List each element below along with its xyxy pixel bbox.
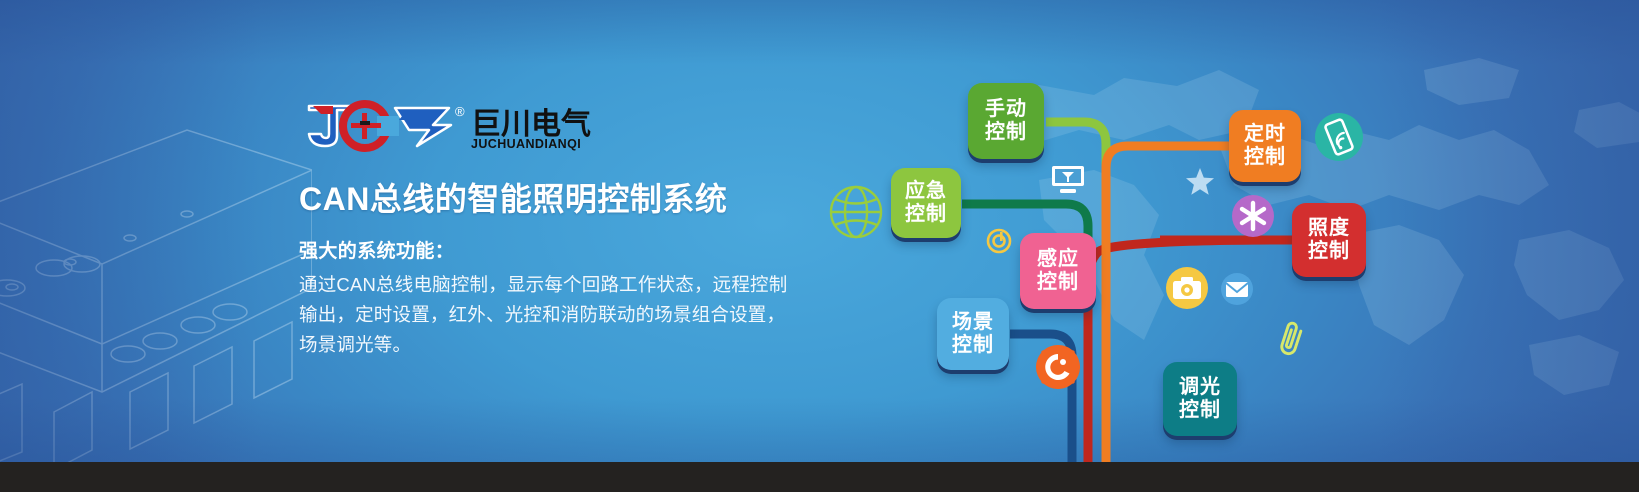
control-badge-manual[interactable]: 手动控制 [968, 83, 1044, 159]
star-icon [1185, 167, 1215, 197]
description-line: 场景调光等。 [299, 330, 899, 360]
badge-label-line1: 调光 [1179, 376, 1221, 399]
envelope-icon [1221, 273, 1253, 305]
paperclip-icon [1275, 318, 1309, 360]
badge-label-line1: 定时 [1244, 123, 1286, 146]
headline-block: ® 巨川电气 JUCHUANDIANQI CAN总线的智能照明控制系统 强大的系… [299, 96, 919, 360]
control-badge-dimming[interactable]: 调光控制 [1163, 362, 1237, 436]
control-badge-timer[interactable]: 定时控制 [1229, 110, 1301, 182]
description-line: 输出，定时设置，红外、光控和消防联动的场景组合设置， [299, 300, 899, 330]
badge-label-line2: 控制 [1179, 399, 1221, 422]
page-title: CAN总线的智能照明控制系统 [299, 174, 919, 220]
gear-icon [1036, 345, 1080, 389]
badge-label-line1: 手动 [985, 98, 1027, 121]
camera-icon [1166, 267, 1208, 309]
subheading: 强大的系统功能： [299, 236, 919, 263]
control-badge-scene[interactable]: 场景控制 [937, 298, 1009, 370]
terminal-block-wireframe-icon [0, 92, 312, 462]
badge-label-line2: 控制 [1037, 271, 1079, 294]
control-badge-lux[interactable]: 照度控制 [1292, 203, 1366, 277]
badge-label-line2: 控制 [1244, 146, 1286, 169]
badge-label-line2: 控制 [952, 334, 994, 357]
svg-text:®: ® [455, 104, 465, 119]
badge-label-line2: 控制 [1308, 240, 1350, 263]
badge-label-line2: 控制 [985, 121, 1027, 144]
logo-name-pinyin: JUCHUANDIANQI [471, 137, 581, 151]
description-line: 通过CAN总线电脑控制，显示每个回路工作状态，远程控制 [299, 270, 899, 300]
control-badge-induction[interactable]: 感应控制 [1020, 233, 1096, 309]
asterisk-icon [1232, 195, 1274, 237]
description-text: 通过CAN总线电脑控制，显示每个回路工作状态，远程控制输出，定时设置，红外、光控… [299, 270, 899, 360]
promo-banner: 手动控制应急控制感应控制场景控制定时控制照度控制调光控制 [0, 0, 1639, 462]
copyright-icon [986, 228, 1012, 254]
badge-label-line1: 场景 [952, 311, 994, 334]
phone-wifi-icon [1315, 113, 1363, 161]
badge-label-line1: 感应 [1037, 248, 1079, 271]
page-bottom-bar [0, 462, 1639, 492]
monitor-icon [1051, 165, 1085, 195]
company-logo: ® 巨川电气 JUCHUANDIANQI [299, 96, 609, 152]
badge-label-line1: 照度 [1308, 217, 1350, 240]
